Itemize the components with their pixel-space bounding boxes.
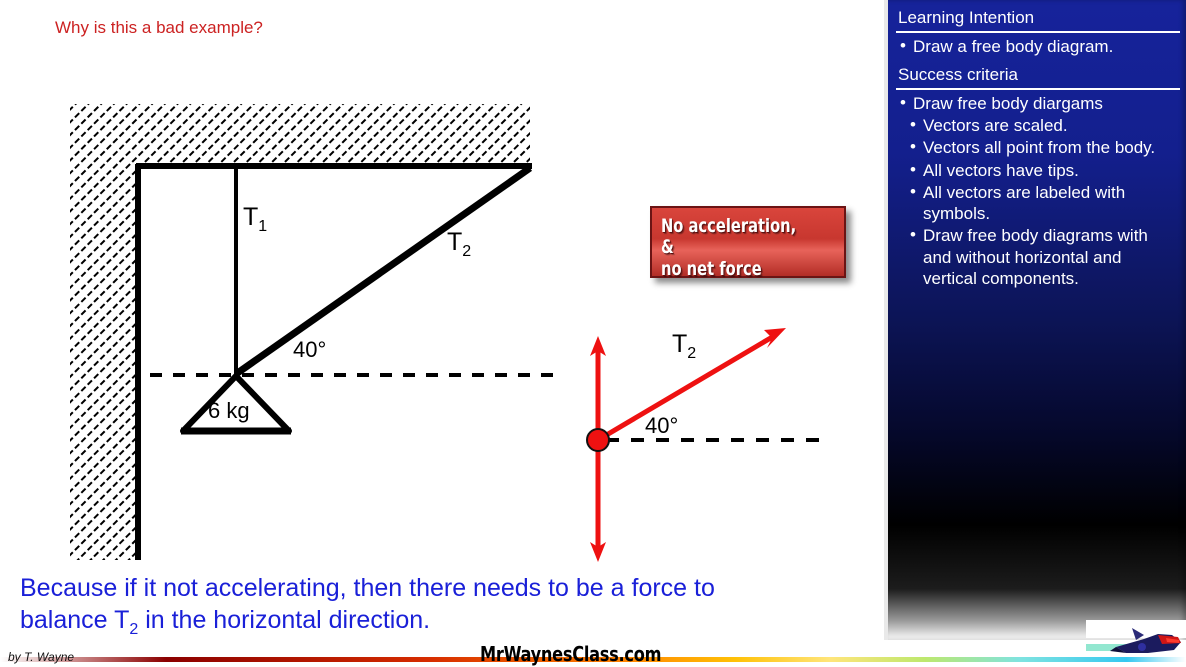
ceiling-hatch bbox=[70, 104, 530, 164]
label-tension-1: T1 bbox=[243, 203, 267, 236]
slide-content-area: Why is this a bad example? bbox=[0, 0, 884, 667]
success-criteria-sublist: Vectors are scaled. Vectors all point fr… bbox=[896, 115, 1180, 289]
fbd-label-tension-2: T2 bbox=[672, 330, 696, 363]
explanation-line-1: Because if it not accelerating, then the… bbox=[20, 572, 870, 604]
list-item: Vectors all point from the body. bbox=[910, 137, 1180, 158]
fbd-center-dot bbox=[587, 429, 609, 451]
website-label: MrWaynesClass.com bbox=[480, 642, 661, 666]
learning-intention-list: Draw a free body diagram. bbox=[896, 36, 1180, 57]
learning-panel: Learning Intention Draw a free body diag… bbox=[884, 0, 1186, 640]
pulley-mass-diagram bbox=[0, 0, 884, 600]
rope-t2 bbox=[236, 168, 530, 374]
learning-intention-title: Learning Intention bbox=[896, 6, 1180, 33]
callout-line-1: No acceleration, & bbox=[661, 216, 811, 259]
list-item: Draw free body diagrams with and without… bbox=[910, 225, 1180, 289]
explanation-text: Because if it not accelerating, then the… bbox=[20, 572, 870, 640]
callout-line-2: no net force bbox=[661, 259, 811, 280]
wall-hatch bbox=[70, 104, 138, 560]
rocket-car-icon bbox=[1086, 620, 1186, 667]
list-item: All vectors have tips. bbox=[910, 160, 1180, 181]
list-item: Draw a free body diagram. bbox=[900, 36, 1180, 57]
fbd-label-angle-40: 40° bbox=[645, 413, 678, 439]
list-item: Vectors are scaled. bbox=[910, 115, 1180, 136]
label-mass-6kg: 6 kg bbox=[208, 398, 250, 424]
callout-no-acceleration: No acceleration, & no net force bbox=[650, 206, 846, 278]
success-criteria-list: Draw free body diargams bbox=[896, 93, 1180, 114]
list-item: All vectors are labeled with symbols. bbox=[910, 182, 1180, 225]
success-criteria-title: Success criteria bbox=[896, 63, 1180, 90]
label-angle-40: 40° bbox=[293, 337, 326, 363]
list-item: Draw free body diargams bbox=[900, 93, 1180, 114]
byline-text: by T. Wayne bbox=[8, 650, 74, 664]
explanation-line-2: balance T2 in the horizontal direction. bbox=[20, 604, 870, 640]
label-tension-2: T2 bbox=[447, 228, 471, 261]
